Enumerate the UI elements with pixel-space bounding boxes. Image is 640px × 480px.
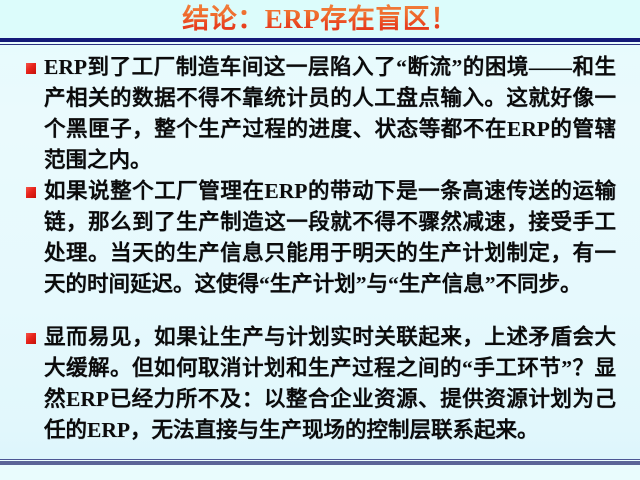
title-divider-thin: [0, 44, 640, 45]
title-prefix: 结论：: [182, 4, 265, 34]
list-item: ERP到了工厂制造车间这一层陷入了“断流”的困境——和生产相关的数据不得不靠统计…: [0, 52, 640, 176]
square-bullet-icon: [26, 333, 36, 344]
slide-title-band: 结论：ERP存在盲区！: [0, 0, 640, 38]
presentation-slide: 结论：ERP存在盲区！ ERP到了工厂制造车间这一层陷入了“断流”的困境——和生…: [0, 0, 640, 480]
slide-body: ERP到了工厂制造车间这一层陷入了“断流”的困境——和生产相关的数据不得不靠统计…: [0, 52, 640, 452]
title-suffix: 存在盲区！: [320, 4, 458, 34]
square-bullet-icon: [26, 63, 36, 74]
square-bullet-icon: [26, 187, 36, 198]
title-underlined-term: ERP: [265, 4, 321, 34]
list-item-text: 显而易见，如果让生产与计划实时关联起来，上述矛盾会大大缓解。但如何取消计划和生产…: [44, 322, 616, 446]
list-item-text: 如果说整个工厂管理在ERP的带动下是一条高速传送的运输链，那么到了生产制造这一段…: [44, 176, 616, 300]
list-item-text: ERP到了工厂制造车间这一层陷入了“断流”的困境——和生产相关的数据不得不靠统计…: [44, 52, 616, 176]
page-title: 结论：ERP存在盲区！: [182, 4, 458, 34]
list-item: 显而易见，如果让生产与计划实时关联起来，上述矛盾会大大缓解。但如何取消计划和生产…: [0, 322, 640, 446]
list-item: 如果说整个工厂管理在ERP的带动下是一条高速传送的运输链，那么到了生产制造这一段…: [0, 176, 640, 300]
footer-divider-thick: [0, 461, 640, 465]
